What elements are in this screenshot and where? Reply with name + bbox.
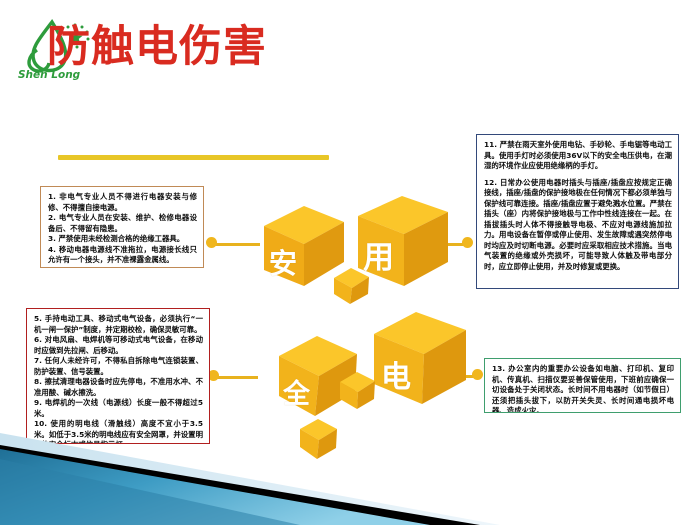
title-underline-rule <box>58 155 329 160</box>
rule-line: 4. 移动电器电源线不准拖拉，电源接长线只允许有一个接头，并不准裸露金属线。 <box>48 245 197 266</box>
connector-dot-box1 <box>206 237 217 248</box>
rule-line: 11. 严禁在雨天室外使用电钻、手砂轮、手电锯等电动工具。使用手灯时必须使用36… <box>484 140 672 172</box>
safety-rules-box-4: 13. 办公室内的重要办公设备如电脑、打印机、复印机、传真机、扫描仪要妥善保管使… <box>484 358 681 413</box>
rule-line: 13. 办公室内的重要办公设备如电脑、打印机、复印机、传真机、扫描仪要妥善保管使… <box>492 364 674 413</box>
rule-line: 7. 任何人未经许可，不得私自拆除电气连锁装置、防护装置、信号装置。 <box>34 356 203 377</box>
rule-line: 8. 擦拭清理电器设备时应先停电，不准用水冲、不准用酸、碱水擦洗。 <box>34 377 203 398</box>
safety-rules-box-3: 11. 严禁在雨天室外使用电钻、手砂轮、手电锯等电动工具。使用手灯时必须使用36… <box>476 134 679 289</box>
rule-line: 12. 日常办公使用电器时插头与插座/插盘应按规定正确接线，插座/插盘的保护接地… <box>484 178 672 273</box>
rule-line: 6. 对电风扇、电焊机等可移动式电气设备，在移动时应做到先拉闸、后移动。 <box>34 335 203 356</box>
slide-canvas: Shen Long 防触电伤害 安 用 全 <box>0 0 700 525</box>
rule-line: 1. 非电气专业人员不得进行电器安装与修修、不得擅自接电源。 <box>48 192 197 213</box>
cube-accent-small-1 <box>330 264 374 312</box>
rule-line: 2. 电气专业人员在安装、维护、检修电器设备后、不得留有隐患。 <box>48 213 197 234</box>
safety-rules-box-1: 1. 非电气专业人员不得进行电器安装与修修、不得擅自接电源。 2. 电气专业人员… <box>40 186 204 268</box>
page-title: 防触电伤害 <box>47 26 267 69</box>
rule-line: 3. 严禁使用未经检测合格的绝缘工器具。 <box>48 234 197 245</box>
rule-line: 5. 手持电动工具、移动式电气设备，必须执行“一机一闸一保护”制度，并定期校检，… <box>34 314 203 335</box>
cube-accent-small-2 <box>336 368 380 416</box>
connector-dot-box3 <box>462 237 473 248</box>
bottom-decor-banner <box>0 415 700 525</box>
connector-line-box2 <box>214 376 258 379</box>
connector-line-box1 <box>212 243 260 246</box>
cube-dian: 电 <box>368 308 476 420</box>
